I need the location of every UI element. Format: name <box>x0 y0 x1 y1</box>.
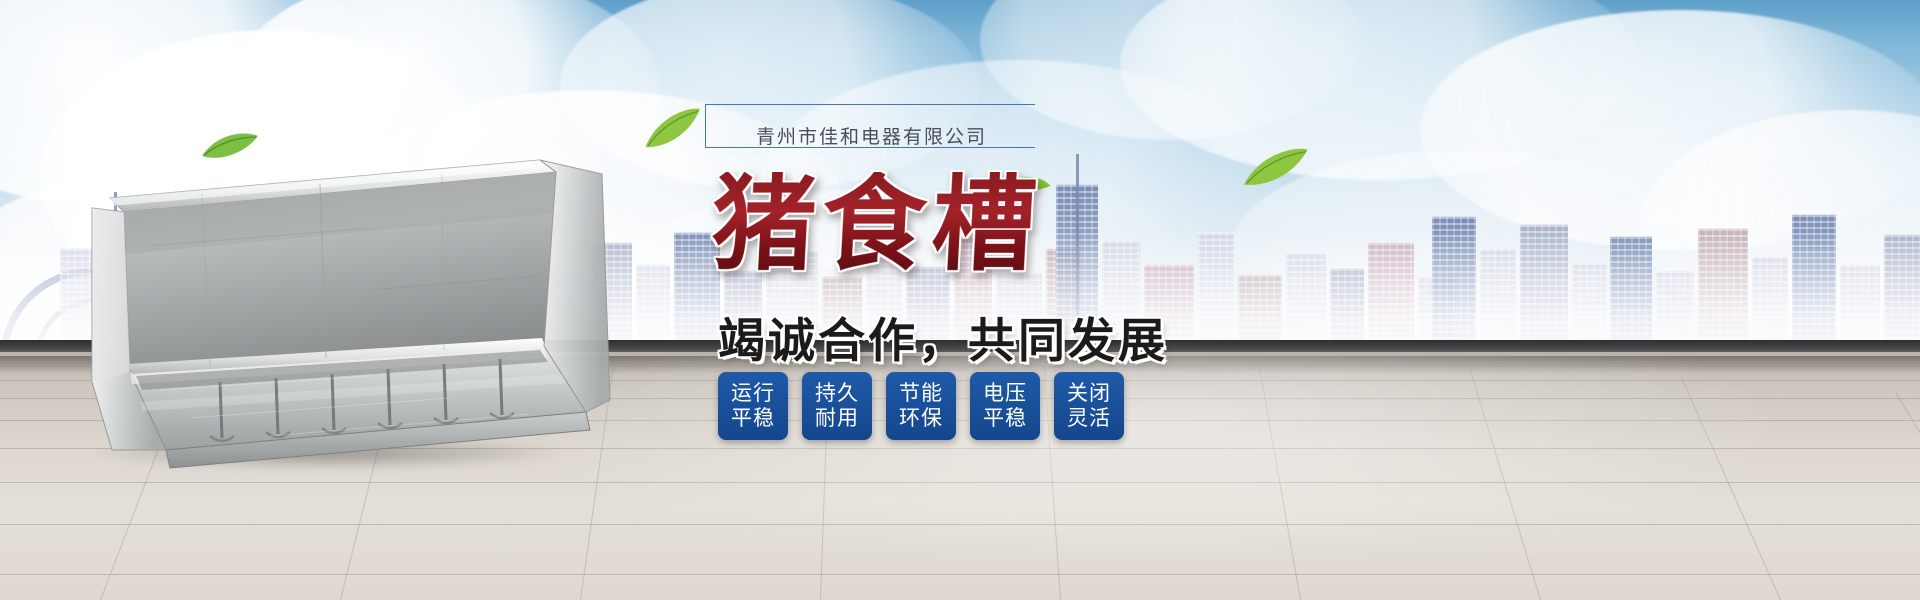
leaf-decoration-icon <box>200 130 260 164</box>
badge-line-1: 关闭 <box>1067 381 1111 406</box>
promotional-banner: 青州市佳和电器有限公司 猪食槽 竭诚合作，共同发展 运行 平稳 持久 耐用 节能… <box>0 0 1920 600</box>
company-name: 青州市佳和电器有限公司 <box>750 122 993 149</box>
feature-badge[interactable]: 关闭 灵活 <box>1054 372 1124 440</box>
subtitle: 竭诚合作，共同发展 <box>718 302 1168 371</box>
badge-line-2: 平稳 <box>731 406 775 431</box>
badge-line-1: 电压 <box>983 381 1027 406</box>
badge-line-2: 灵活 <box>1067 406 1111 431</box>
feature-badge-list: 运行 平稳 持久 耐用 节能 环保 电压 平稳 关闭 灵活 <box>718 372 1124 440</box>
feature-badge[interactable]: 节能 环保 <box>886 372 956 440</box>
badge-line-2: 平稳 <box>983 406 1027 431</box>
feature-badge[interactable]: 电压 平稳 <box>970 372 1040 440</box>
feature-badge[interactable]: 持久 耐用 <box>802 372 872 440</box>
badge-line-2: 耐用 <box>815 406 859 431</box>
badge-line-1: 运行 <box>731 381 775 406</box>
page-title: 猪食槽 <box>709 172 1044 276</box>
badge-line-2: 环保 <box>899 406 943 431</box>
badge-line-1: 持久 <box>815 381 859 406</box>
brand-frame-container: 青州市佳和电器有限公司 <box>690 100 1035 156</box>
product-image <box>70 150 630 480</box>
feature-badge[interactable]: 运行 平稳 <box>718 372 788 440</box>
badge-line-1: 节能 <box>899 381 943 406</box>
banner-text-block: 青州市佳和电器有限公司 猪食槽 竭诚合作，共同发展 运行 平稳 持久 耐用 节能… <box>690 100 1250 500</box>
